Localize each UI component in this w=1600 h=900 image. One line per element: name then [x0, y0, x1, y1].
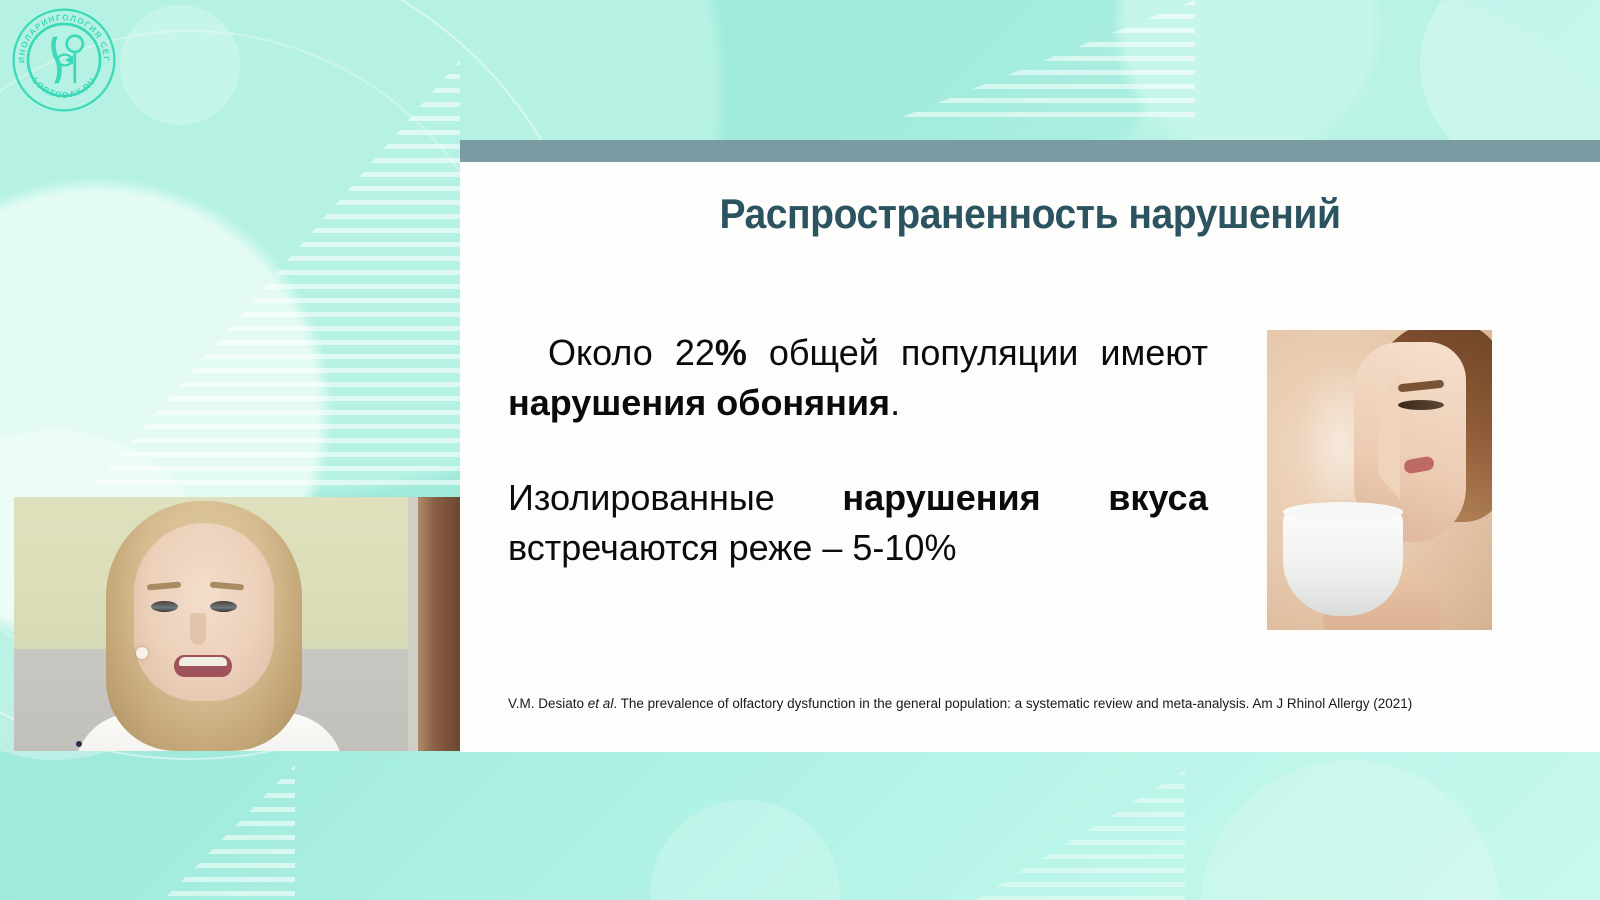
webcam-coat-button [76, 741, 82, 747]
background-circle-top [120, 5, 240, 125]
slide-title: Распространенность нарушений [500, 190, 1560, 238]
slide-body-text: Около 22% общей популяции имеют нарушени… [508, 328, 1208, 573]
svg-text:ОТОРИНОЛАРИНГОЛОГИЯ СЕГОДНЯ: ОТОРИНОЛАРИНГОЛОГИЯ СЕГОДНЯ [10, 6, 111, 63]
para2-prefix: Изолированные [508, 477, 842, 518]
webcam-earring [136, 647, 148, 659]
citation-etal: et al [588, 696, 614, 711]
slide-citation: V.M. Desiato et al. The prevalence of ol… [508, 696, 1558, 712]
paragraph-taste: Изолированные нарушения вкуса встречаютс… [508, 473, 1208, 572]
slide-illustration-coffee-smell [1267, 330, 1492, 630]
paragraph-olfactory: Около 22% общей популяции имеют нарушени… [508, 328, 1208, 427]
para2-line1: Изолированные нарушения вкуса [508, 477, 1208, 518]
para1-percent-sign: % [715, 332, 747, 373]
presentation-slide[interactable]: Распространенность нарушений Около 22% о… [460, 140, 1600, 752]
para2-line2: встречаются реже – 5-10% [508, 527, 956, 568]
webcam-teeth [179, 657, 227, 666]
citation-author: V.M. Desiato [508, 696, 588, 711]
logo-bottom-text: · LORTODAY.RU · [26, 69, 101, 99]
photo-cup [1283, 508, 1403, 616]
citation-rest: . The prevalence of olfactory dysfunctio… [613, 696, 1412, 711]
webcam-eye-left [151, 601, 178, 612]
para1-mid-text: общей популяции имеют [747, 332, 1208, 373]
para1-period: . [890, 382, 900, 423]
para1-word-okolo: Около [548, 332, 675, 373]
webcam-door-frame [408, 497, 418, 751]
slide-header-bar [460, 140, 1600, 162]
screen-root: ОТОРИНОЛАРИНГОЛОГИЯ СЕГОДНЯ · LORTODAY.R… [0, 0, 1600, 900]
webcam-nose [190, 613, 206, 645]
logo-top-text: ОТОРИНОЛАРИНГОЛОГИЯ СЕГОДНЯ [10, 6, 111, 63]
para1-highlight-olfactory: нарушения обоняния [508, 382, 890, 423]
webcam-door [418, 497, 460, 751]
photo-eye [1398, 400, 1444, 410]
speaker-video-feed[interactable] [14, 497, 460, 751]
svg-text:· LORTODAY.RU ·: · LORTODAY.RU · [26, 69, 101, 99]
para2-highlight-taste: нарушения вкуса [842, 477, 1208, 518]
photo-cup-rim [1283, 502, 1403, 522]
lortoday-logo-icon: ОТОРИНОЛАРИНГОЛОГИЯ СЕГОДНЯ · LORTODAY.R… [10, 6, 118, 114]
para1-value-22: 22 [675, 332, 715, 373]
webcam-eye-right [210, 601, 237, 612]
